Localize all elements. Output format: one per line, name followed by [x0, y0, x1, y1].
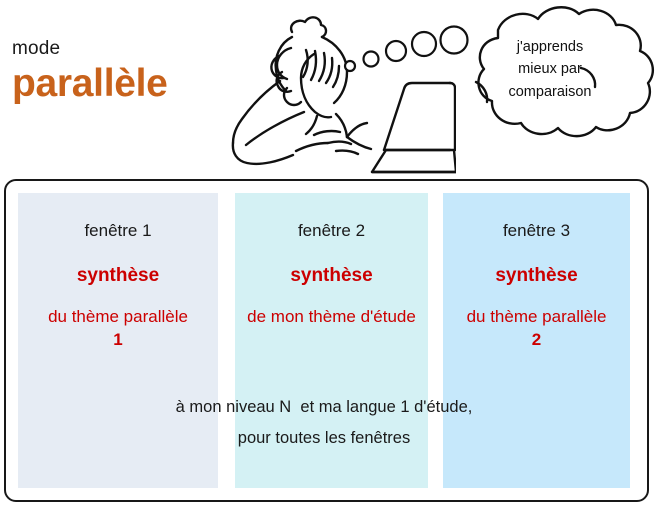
detail-emph-3: 2: [443, 329, 630, 352]
window-label-2: fenêtre 2: [235, 221, 428, 241]
mode-label: mode: [12, 38, 60, 60]
footer-text: à mon niveau N et ma langue 1 d'étude, p…: [18, 392, 630, 455]
footer-line-2: pour toutes les fenêtres: [18, 423, 630, 454]
window-label-1: fenêtre 1: [18, 221, 218, 241]
detail-text-2: de mon thème d'étude: [235, 306, 428, 329]
detail-emph-1: 1: [18, 329, 218, 352]
thought-line-1: j'apprends: [470, 36, 630, 58]
synthese-label-3: synthèse: [443, 265, 630, 287]
window-label-3: fenêtre 3: [443, 221, 630, 241]
synthese-label-2: synthèse: [235, 265, 428, 287]
detail-emph-2: d'étude: [361, 307, 416, 326]
thought-bubble-text: j'apprendsmieux parcomparaison: [470, 36, 630, 103]
detail-text-1: du thème parallèle 1: [18, 306, 218, 352]
detail-line-3: du thème parallèle: [467, 307, 607, 326]
detail-line-2: de mon thème: [247, 307, 356, 326]
thought-line-3: comparaison: [470, 81, 630, 103]
synthese-label-1: synthèse: [18, 265, 218, 287]
thought-line-2: mieux par: [470, 58, 630, 80]
footer-line-1: à mon niveau N et ma langue 1 d'étude,: [18, 392, 630, 423]
detail-line-1: du thème parallèle: [48, 307, 188, 326]
mode-title: parallèle: [12, 62, 168, 106]
detail-text-3: du thème parallèle 2: [443, 306, 630, 352]
